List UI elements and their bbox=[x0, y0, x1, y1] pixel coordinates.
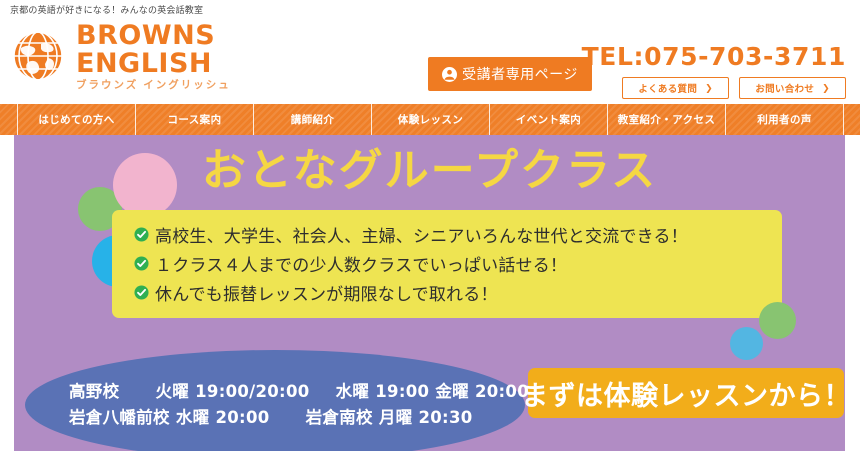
member-page-button[interactable]: 受講者専用ページ bbox=[428, 57, 592, 91]
schedule-takano-times-1: 火曜 19:00/20:00 bbox=[156, 382, 310, 401]
contact-button[interactable]: お問い合わせ ❯ bbox=[739, 77, 846, 99]
nav-item-voices[interactable]: 利用者の声 bbox=[726, 104, 844, 135]
header-sub-buttons: よくある質問 ❯ お問い合わせ ❯ bbox=[622, 77, 846, 99]
nav-edge-left bbox=[0, 104, 18, 135]
logo-line-1: BROWNS bbox=[76, 22, 231, 50]
site-logo[interactable]: BROWNS ENGLISH ブラウンズ イングリッシュ bbox=[8, 22, 231, 91]
chevron-right-icon: ❯ bbox=[705, 84, 713, 93]
contact-button-label: お問い合わせ bbox=[755, 81, 814, 95]
page-root: 京都の英語が好きになる！みんなの英会話教室 bbox=[0, 0, 860, 451]
main-navigation: はじめての方へ コース案内 講師紹介 体験レッスン イベント案内 教室紹介・アク… bbox=[0, 104, 860, 135]
nav-item-events[interactable]: イベント案内 bbox=[490, 104, 608, 135]
schedule-line-1: 高野校 火曜 19:00/20:00 水曜 19:00 金曜 20:00 bbox=[69, 379, 525, 405]
phone-number: TEL:075-703-3711 bbox=[582, 42, 846, 71]
decorative-dot-blue-right bbox=[730, 327, 763, 360]
hero-title: おとなグループクラス bbox=[14, 149, 845, 193]
hero-point-item: 休んでも振替レッスンが期限なしで取れる！ bbox=[134, 280, 782, 305]
nav-item-access[interactable]: 教室紹介・アクセス bbox=[608, 104, 726, 135]
person-icon bbox=[442, 67, 457, 82]
nav-item-courses[interactable]: コース案内 bbox=[136, 104, 254, 135]
nav-item-beginners[interactable]: はじめての方へ bbox=[18, 104, 136, 135]
nav-item-teachers[interactable]: 講師紹介 bbox=[254, 104, 372, 135]
schedule-school-takano: 高野校 bbox=[69, 382, 119, 401]
hero-points-box: 高校生、大学生、社会人、主婦、シニアいろんな世代と交流できる！ １クラス４人まで… bbox=[112, 210, 782, 318]
logo-line-2: ENGLISH bbox=[76, 50, 231, 78]
schedule-school-iwakura-minami: 岩倉南校 月曜 20:30 bbox=[306, 408, 473, 427]
nav-edge-right bbox=[844, 104, 860, 135]
check-circle-icon bbox=[134, 285, 149, 300]
member-page-button-label: 受講者専用ページ bbox=[462, 64, 578, 84]
schedule-school-iwakura-hachiman: 岩倉八幡前校 水曜 20:00 bbox=[69, 408, 270, 427]
chevron-right-icon: ❯ bbox=[822, 84, 830, 93]
decorative-dot-green-right bbox=[759, 302, 796, 339]
check-circle-icon bbox=[134, 256, 149, 271]
site-tagline: 京都の英語が好きになる！みんなの英会話教室 bbox=[10, 3, 203, 16]
faq-button-label: よくある質問 bbox=[638, 81, 697, 95]
schedule-bubble: 高野校 火曜 19:00/20:00 水曜 19:00 金曜 20:00 岩倉八… bbox=[25, 350, 525, 451]
trial-lesson-cta-button[interactable]: まずは体験レッスンから！ bbox=[528, 368, 844, 418]
globe-icon bbox=[8, 26, 68, 86]
hero-point-item: １クラス４人までの少人数クラスでいっぱい話せる！ bbox=[134, 251, 782, 276]
hero-point-text: 休んでも振替レッスンが期限なしで取れる！ bbox=[155, 280, 498, 305]
schedule-line-2: 岩倉八幡前校 水曜 20:00 岩倉南校 月曜 20:30 bbox=[69, 405, 525, 431]
hero-point-text: 高校生、大学生、社会人、主婦、シニアいろんな世代と交流できる！ bbox=[155, 222, 688, 247]
check-circle-icon bbox=[134, 227, 149, 242]
hero-point-text: １クラス４人までの少人数クラスでいっぱい話せる！ bbox=[155, 251, 567, 276]
logo-kana: ブラウンズ イングリッシュ bbox=[76, 80, 231, 91]
schedule-takano-times-2: 水曜 19:00 金曜 20:00 bbox=[336, 382, 529, 401]
site-header: BROWNS ENGLISH ブラウンズ イングリッシュ 受講者専用ページ TE… bbox=[0, 16, 860, 104]
faq-button[interactable]: よくある質問 ❯ bbox=[622, 77, 729, 99]
hero-banner: おとなグループクラス 高校生、大学生、社会人、主婦、シニアいろんな世代と交流でき… bbox=[14, 135, 845, 451]
hero-point-item: 高校生、大学生、社会人、主婦、シニアいろんな世代と交流できる！ bbox=[134, 222, 782, 247]
nav-item-trial[interactable]: 体験レッスン bbox=[372, 104, 490, 135]
